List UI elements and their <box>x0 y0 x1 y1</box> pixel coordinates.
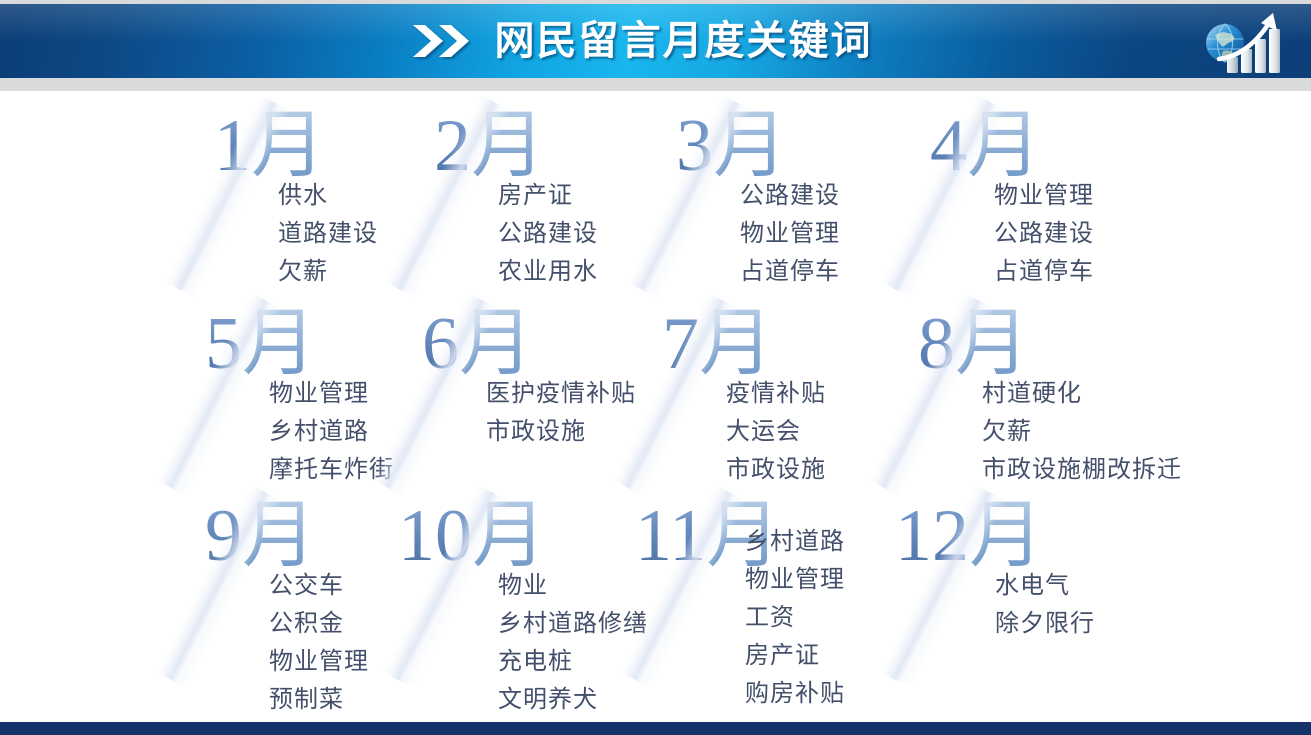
header-title-group: 网民留言月度关键词 <box>411 21 873 61</box>
month-card-4: 4月 物业管理 公路建设 占道停车 <box>930 109 1094 291</box>
keyword-item: 物业 <box>498 567 648 605</box>
keyword-item: 除夕限行 <box>995 605 1095 643</box>
globe-bar-chart-growth-icon <box>1189 7 1297 77</box>
month-number: 7 <box>662 303 699 385</box>
month-unit-char: 月 <box>955 303 1029 385</box>
month-unit-char: 月 <box>242 495 316 577</box>
keyword-item: 大运会 <box>726 413 826 451</box>
keyword-list: 疫情补贴 大运会 市政设施 <box>662 375 826 489</box>
keyword-list: 村道硬化 欠薪 市政设施棚改拆迁 <box>918 375 1182 489</box>
keyword-item: 物业管理 <box>740 215 840 253</box>
keyword-item: 欠薪 <box>278 253 378 291</box>
keyword-item: 占道停车 <box>740 253 840 291</box>
month-unit-char: 月 <box>472 495 546 577</box>
month-card-3: 3月 公路建设 物业管理 占道停车 <box>676 109 840 291</box>
keyword-item: 公路建设 <box>498 215 598 253</box>
keyword-item: 乡村道路修缮 <box>498 605 648 643</box>
keyword-item: 公交车 <box>269 567 369 605</box>
keyword-item: 房产证 <box>498 177 598 215</box>
month-unit-char: 月 <box>713 105 787 187</box>
month-number: 4 <box>930 105 967 187</box>
month-unit-char: 月 <box>251 105 325 187</box>
keyword-item: 房产证 <box>745 637 845 675</box>
keyword-item: 预制菜 <box>269 681 369 719</box>
month-unit-char: 月 <box>242 303 316 385</box>
month-number: 9 <box>205 495 242 577</box>
month-card-11: 11月 乡村道路 物业管理 工资 房产证 购房补贴 <box>635 499 845 713</box>
month-unit-char: 月 <box>471 105 545 187</box>
keyword-item: 公积金 <box>269 605 369 643</box>
keyword-list: 公交车 公积金 物业管理 预制菜 <box>205 567 369 719</box>
keyword-item: 占道停车 <box>994 253 1094 291</box>
month-number: 5 <box>205 303 242 385</box>
keyword-item: 市政设施 <box>726 451 826 489</box>
keyword-item: 供水 <box>278 177 378 215</box>
keyword-item: 医护疫情补贴 <box>486 375 636 413</box>
month-card-1: 1月 供水 道路建设 欠薪 <box>214 109 378 291</box>
month-unit-char: 月 <box>969 495 1043 577</box>
month-number: 3 <box>676 105 713 187</box>
keyword-list: 水电气 除夕限行 <box>895 567 1095 643</box>
month-number: 1 <box>214 105 251 187</box>
month-card-9: 9月 公交车 公积金 物业管理 预制菜 <box>205 499 369 719</box>
keyword-item: 购房补贴 <box>745 675 845 713</box>
keyword-item: 村道硬化 <box>982 375 1182 413</box>
keyword-item: 水电气 <box>995 567 1095 605</box>
keyword-list: 供水 道路建设 欠薪 <box>214 177 378 291</box>
keyword-item: 摩托车炸街 <box>269 451 394 489</box>
keyword-item: 公路建设 <box>740 177 840 215</box>
keyword-item: 疫情补贴 <box>726 375 826 413</box>
keyword-item: 物业管理 <box>745 561 845 599</box>
double-chevron-right-icon <box>411 23 473 59</box>
page-header-banner: 网民留言月度关键词 <box>0 4 1311 78</box>
keyword-item: 农业用水 <box>498 253 598 291</box>
keyword-item: 欠薪 <box>982 413 1182 451</box>
header-content: 网民留言月度关键词 <box>0 4 1311 78</box>
month-card-5: 5月 物业管理 乡村道路 摩托车炸街 <box>205 307 394 489</box>
keyword-list: 公路建设 物业管理 占道停车 <box>676 177 840 291</box>
page-title: 网民留言月度关键词 <box>495 21 873 61</box>
keyword-item: 市政设施 <box>486 413 636 451</box>
bottom-edge-bar <box>0 722 1311 735</box>
keyword-item: 文明养犬 <box>498 681 648 719</box>
keyword-item: 市政设施棚改拆迁 <box>982 451 1182 489</box>
keyword-item: 道路建设 <box>278 215 378 253</box>
month-card-8: 8月 村道硬化 欠薪 市政设施棚改拆迁 <box>918 307 1182 489</box>
month-card-2: 2月 房产证 公路建设 农业用水 <box>434 109 598 291</box>
keyword-item: 物业管理 <box>269 643 369 681</box>
month-unit-char: 月 <box>967 105 1041 187</box>
month-card-10: 10月 物业 乡村道路修缮 充电桩 文明养犬 <box>398 499 648 719</box>
month-card-7: 7月 疫情补贴 大运会 市政设施 <box>662 307 826 489</box>
keyword-list: 物业管理 公路建设 占道停车 <box>930 177 1094 291</box>
month-card-6: 6月 医护疫情补贴 市政设施 <box>422 307 636 451</box>
keyword-list: 房产证 公路建设 农业用水 <box>434 177 598 291</box>
keyword-item: 物业管理 <box>994 177 1094 215</box>
keyword-item: 乡村道路 <box>745 523 845 561</box>
month-unit-char: 月 <box>699 303 773 385</box>
month-number: 8 <box>918 303 955 385</box>
month-number: 10 <box>398 495 472 577</box>
month-card-12: 12月 水电气 除夕限行 <box>895 499 1095 643</box>
keyword-grid: 1月 供水 道路建设 欠薪 2月 房产证 公路建设 农业用水 3月 公路建设 物… <box>0 91 1311 722</box>
month-number: 6 <box>422 303 459 385</box>
keyword-list: 物业管理 乡村道路 摩托车炸街 <box>205 375 394 489</box>
month-number: 12 <box>895 495 969 577</box>
month-unit-char: 月 <box>459 303 533 385</box>
keyword-item: 乡村道路 <box>269 413 394 451</box>
month-number: 2 <box>434 105 471 187</box>
keyword-item: 物业管理 <box>269 375 394 413</box>
keyword-item: 工资 <box>745 599 845 637</box>
header-underline-band <box>0 78 1311 91</box>
keyword-list: 物业 乡村道路修缮 充电桩 文明养犬 <box>398 567 648 719</box>
keyword-item: 充电桩 <box>498 643 648 681</box>
keyword-item: 公路建设 <box>994 215 1094 253</box>
keyword-list: 乡村道路 物业管理 工资 房产证 购房补贴 <box>635 523 845 713</box>
keyword-list: 医护疫情补贴 市政设施 <box>422 375 636 451</box>
